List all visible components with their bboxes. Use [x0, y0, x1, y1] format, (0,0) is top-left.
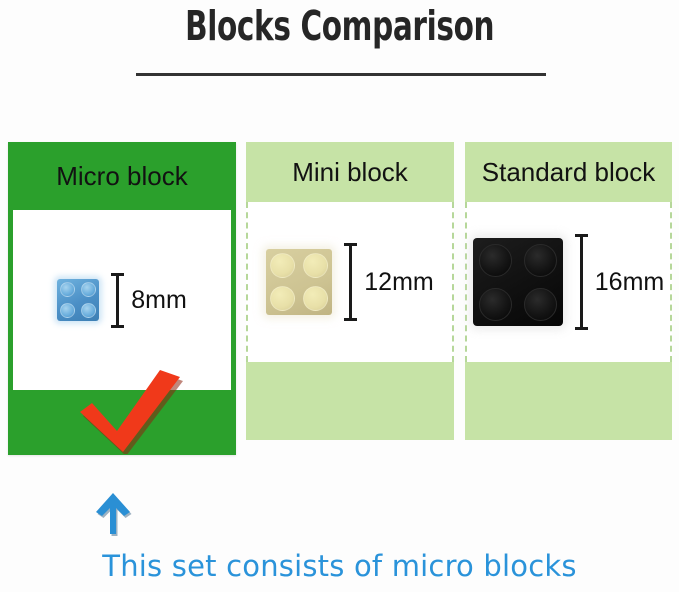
- title-underline-rule: [136, 73, 546, 76]
- dimension-label-mini: 12mm: [364, 268, 433, 297]
- specimen-standard: 16mm: [467, 202, 670, 362]
- card-footer-micro: [8, 390, 236, 455]
- blue-micro-brick-icon: [57, 279, 99, 321]
- card-footer-mini: [246, 362, 454, 440]
- brick-stud: [60, 282, 75, 297]
- card-title-micro: Micro block: [8, 142, 236, 210]
- dimension-label-standard: 16mm: [595, 268, 664, 297]
- card-title-standard: Standard block: [465, 142, 672, 202]
- ibeam-cap-bottom: [575, 327, 588, 330]
- brick-stud: [303, 253, 328, 278]
- ibeam-shaft: [580, 234, 583, 330]
- card-body-mini: 12mm: [246, 202, 454, 362]
- dimension-mini: 12mm: [344, 243, 433, 321]
- brick-stud: [81, 303, 96, 318]
- brick-stud: [479, 288, 512, 321]
- dimension-ibeam-icon: [344, 243, 357, 321]
- specimen-micro: 8mm: [13, 210, 231, 390]
- brick-stud: [524, 244, 557, 277]
- callout-caption: This set consists of micro blocks: [0, 548, 679, 584]
- tan-mini-brick-icon: [266, 249, 332, 315]
- card-title-mini: Mini block: [246, 142, 454, 202]
- brick-stud: [270, 253, 295, 278]
- black-standard-brick-icon: [473, 238, 563, 326]
- comparison-card-micro[interactable]: Micro block: [8, 142, 236, 455]
- ibeam-cap-bottom: [344, 318, 357, 321]
- comparison-card-row: Micro block: [0, 142, 679, 458]
- ibeam-shaft: [116, 273, 119, 328]
- brick-stud: [524, 288, 557, 321]
- comparison-card-mini[interactable]: Mini block: [246, 142, 454, 440]
- check-mark-icon: [76, 368, 184, 454]
- card-body-standard: 16mm: [465, 202, 672, 362]
- dimension-standard: 16mm: [575, 234, 664, 330]
- brick-stud: [303, 286, 328, 311]
- blocks-comparison-infographic: Blocks Comparison Micro block: [0, 0, 679, 592]
- brick-stud: [81, 282, 96, 297]
- ibeam-shaft: [349, 243, 352, 321]
- brick-stud: [270, 286, 295, 311]
- card-body-micro: 8mm: [13, 210, 231, 390]
- brick-stud: [479, 244, 512, 277]
- arrow-up-icon: [93, 490, 133, 536]
- page-title-text: Blocks Comparison: [185, 2, 494, 50]
- page-title: Blocks Comparison: [0, 2, 679, 50]
- brick-stud: [60, 303, 75, 318]
- ibeam-cap-bottom: [111, 325, 124, 328]
- specimen-mini: 12mm: [248, 202, 452, 362]
- dimension-ibeam-icon: [111, 273, 124, 328]
- dimension-label-micro: 8mm: [131, 286, 187, 315]
- comparison-card-standard[interactable]: Standard block: [465, 142, 672, 440]
- card-footer-standard: [465, 362, 672, 440]
- dimension-micro: 8mm: [111, 273, 187, 328]
- dimension-ibeam-icon: [575, 234, 588, 330]
